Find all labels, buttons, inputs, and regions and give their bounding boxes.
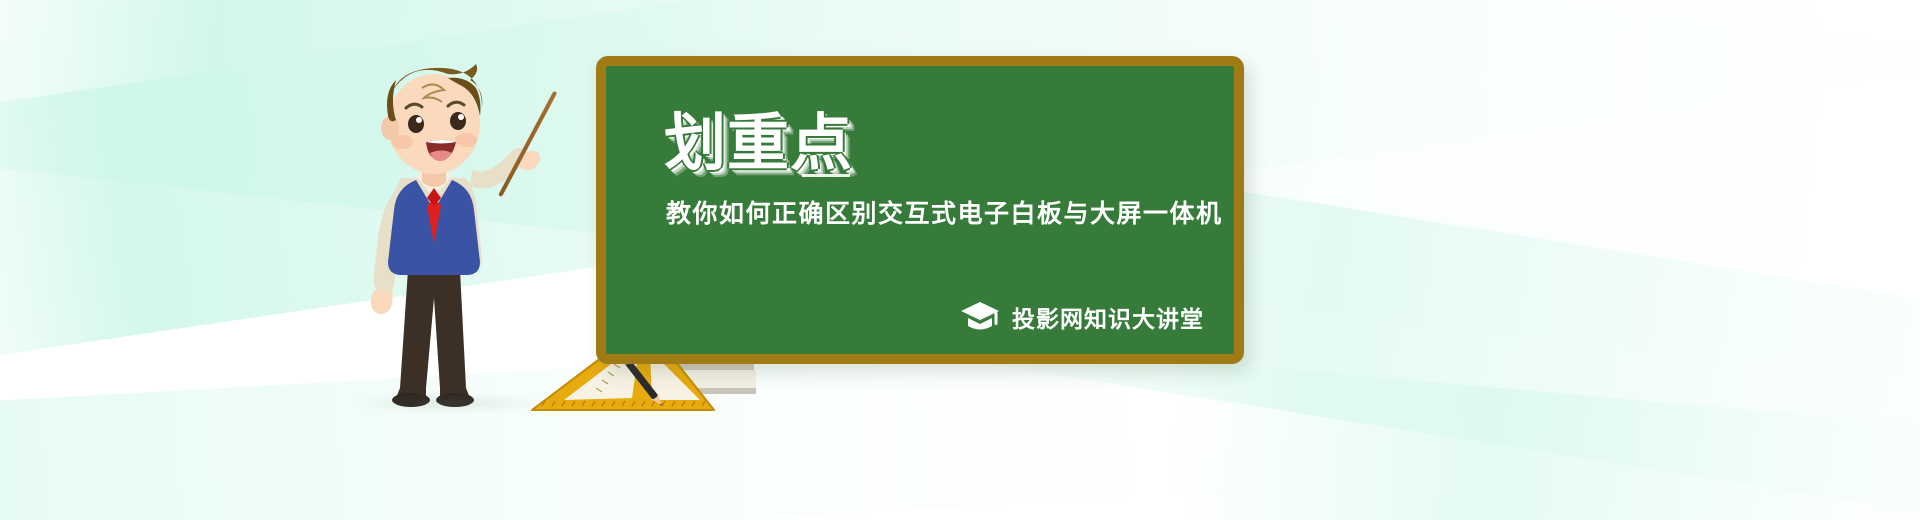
brand-logo: 投影网知识大讲堂 <box>960 300 1204 334</box>
graduation-cap-icon <box>960 300 1000 334</box>
brand-name: 投影网知识大讲堂 <box>1012 300 1204 334</box>
page-title: 划重点 <box>664 112 853 174</box>
blackboard: 划重点 教你如何正确区别交互式电子白板与大屏一体机 投影网知识大讲堂 <box>596 56 1244 364</box>
page-subtitle: 教你如何正确区别交互式电子白板与大屏一体机 <box>666 194 1223 230</box>
title-underline <box>802 174 850 177</box>
figure-ground-shadow <box>350 392 550 414</box>
promo-banner: 划重点 教你如何正确区别交互式电子白板与大屏一体机 投影网知识大讲堂 <box>0 0 1920 520</box>
